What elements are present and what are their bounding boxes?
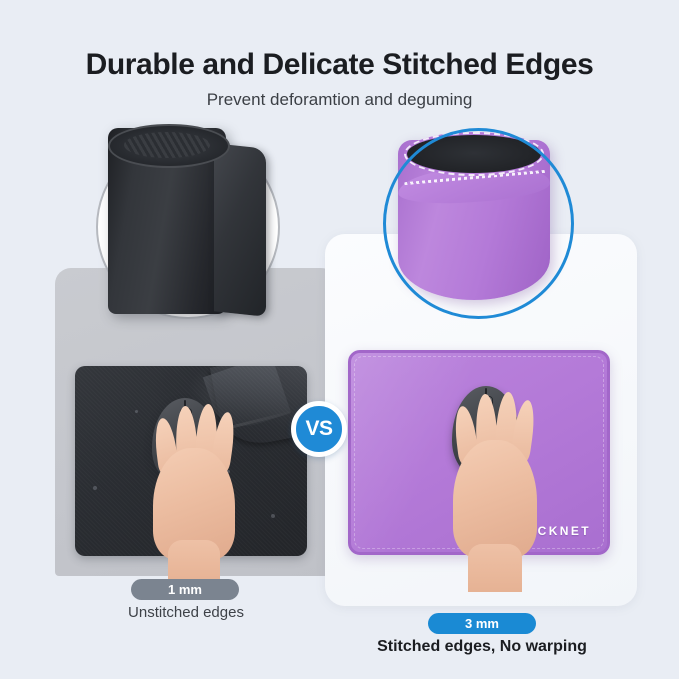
wrist (168, 540, 220, 584)
palm (453, 440, 537, 558)
vs-badge: VS (291, 401, 347, 457)
surface-speck (271, 514, 275, 518)
caption-right: Stitched edges, No warping (330, 638, 634, 656)
product-comparison-graphic: Durable and Delicate Stitched Edges Prev… (0, 0, 679, 679)
black-roll-inner-texture (124, 132, 210, 158)
stitched-edge-closeup-ring (383, 128, 574, 319)
thickness-badge-left: 1 mm (131, 579, 239, 600)
surface-ripple (228, 410, 297, 430)
page-title: Durable and Delicate Stitched Edges (0, 48, 679, 82)
wrist (468, 544, 522, 592)
caption-left: Unstitched edges (55, 604, 317, 621)
surface-speck (135, 410, 138, 413)
surface-speck (93, 486, 97, 490)
thickness-badge-right: 3 mm (428, 613, 536, 634)
black-roll-flap (214, 143, 266, 316)
page-subtitle: Prevent deforamtion and deguming (0, 90, 679, 110)
